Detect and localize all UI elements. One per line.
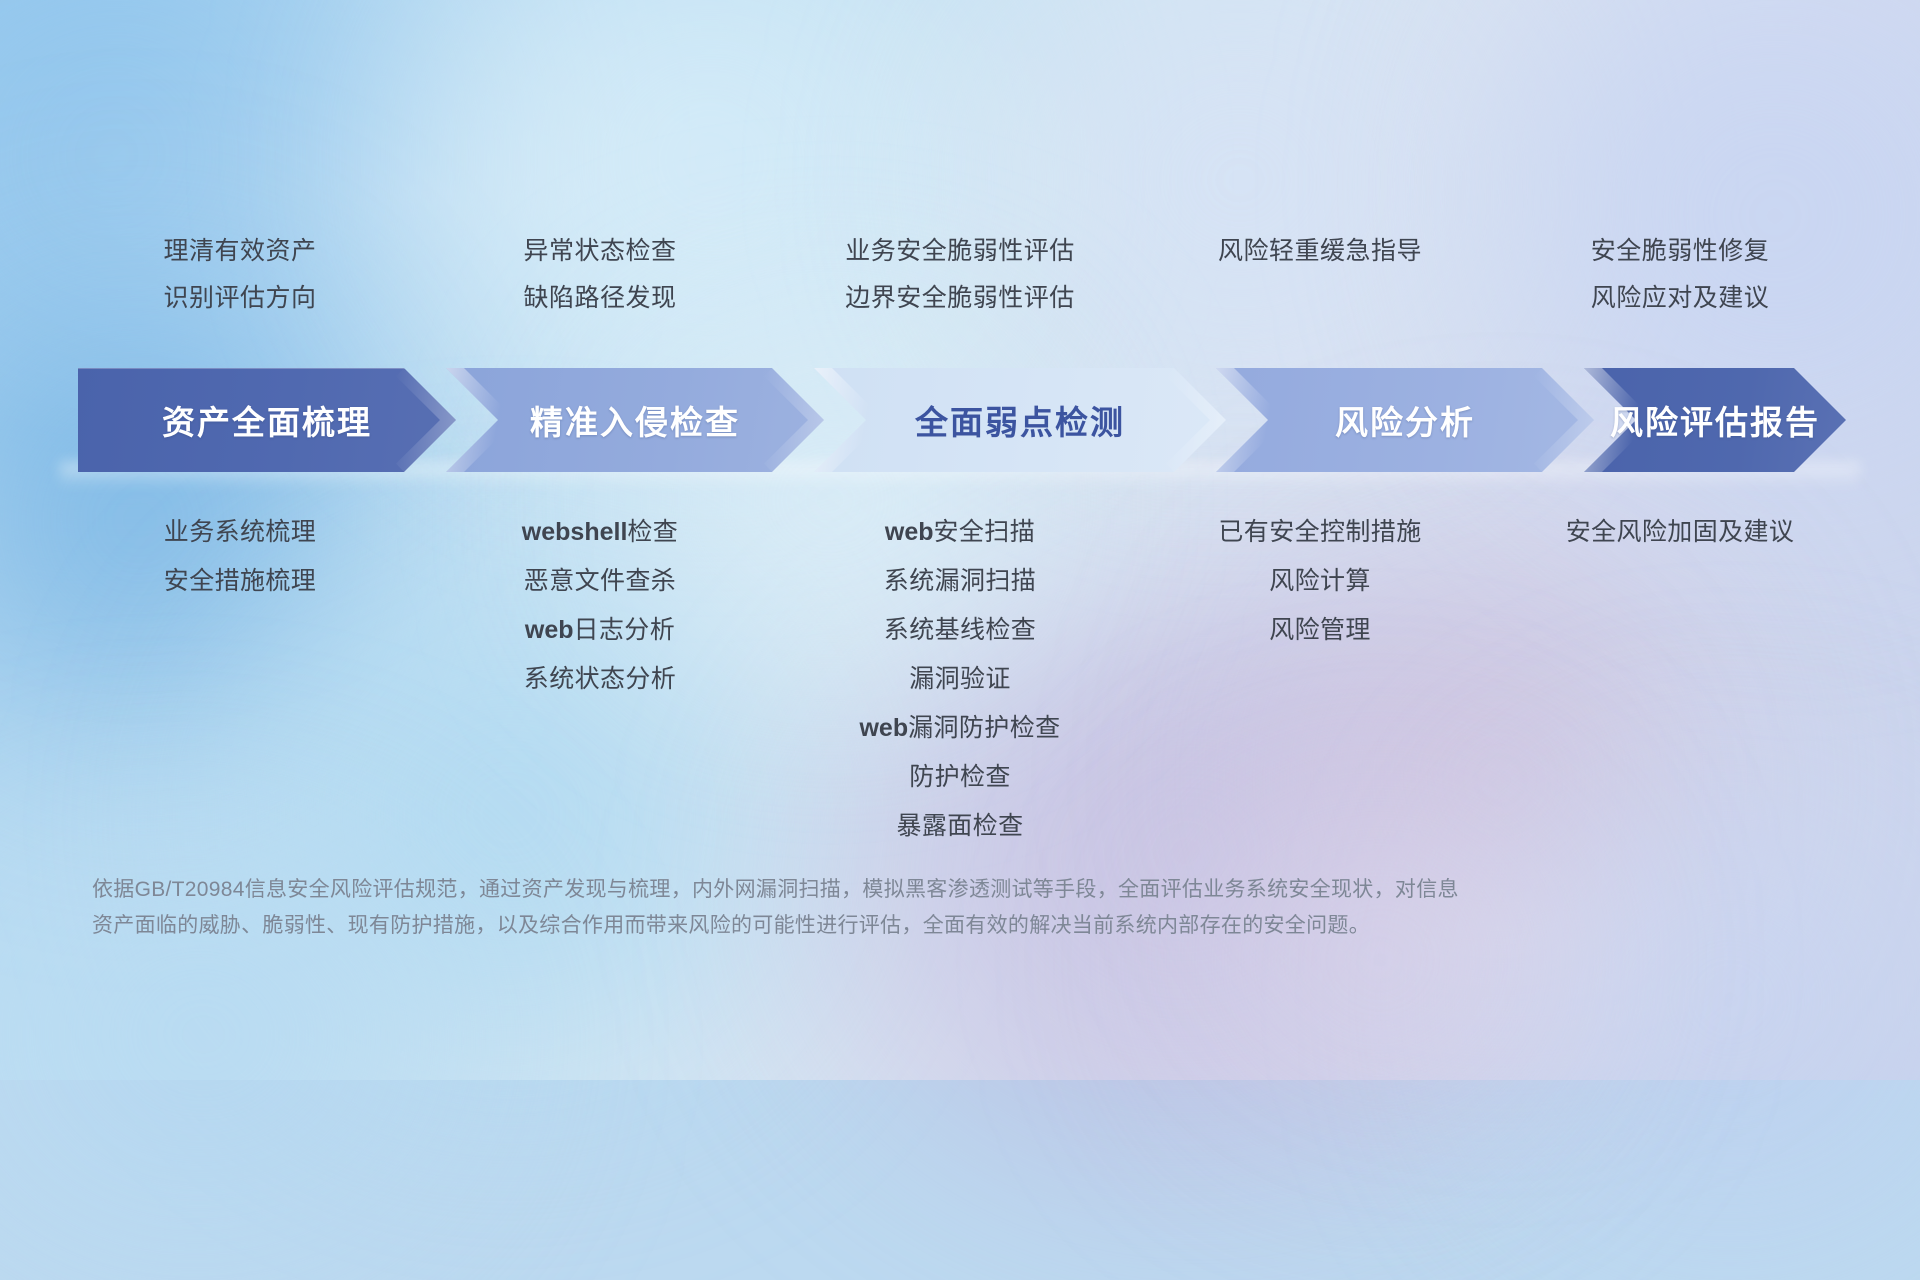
top-descriptor-column-2: 异常状态检查缺陷路径发现	[420, 228, 780, 318]
detail-item-cjk: 系统基线检查	[884, 616, 1036, 644]
stage-chevron-3[interactable]: 全面弱点检测	[814, 368, 1226, 472]
stage-chevron-4[interactable]: 风险分析	[1216, 368, 1594, 472]
top-descriptor-item: 理清有效资产	[163, 228, 316, 275]
bottom-detail-item: 安全风险加固及建议	[1566, 508, 1795, 557]
top-descriptor-column-5: 安全脆弱性修复风险应对及建议	[1500, 228, 1860, 318]
bottom-detail-item: 系统状态分析	[524, 655, 676, 704]
stage-label-4: 风险分析	[1335, 396, 1475, 444]
bottom-detail-item: 风险计算	[1269, 557, 1371, 606]
stage-label-2: 精准入侵检查	[530, 396, 740, 444]
detail-item-cjk: 系统状态分析	[524, 665, 676, 693]
bottom-detail-item: 业务系统梳理	[164, 508, 316, 557]
stage-label-5: 风险评估报告	[1610, 396, 1820, 444]
detail-item-cjk: 漏洞防护检查	[908, 714, 1060, 742]
detail-item-cjk: 检查	[627, 518, 678, 546]
stage-chevron-5[interactable]: 风险评估报告	[1584, 368, 1846, 472]
bottom-detail-column-3: web安全扫描系统漏洞扫描系统基线检查漏洞验证web漏洞防护检查防护检查暴露面检…	[780, 508, 1140, 851]
bottom-detail-item: 暴露面检查	[896, 802, 1023, 851]
top-descriptor-item: 安全脆弱性修复	[1591, 228, 1770, 275]
bottom-detail-item: 风险管理	[1269, 606, 1371, 655]
top-descriptor-item: 边界安全脆弱性评估	[845, 275, 1075, 322]
detail-item-latin: web	[525, 616, 574, 644]
bottom-detail-column-5: 安全风险加固及建议	[1500, 508, 1860, 557]
bottom-detail-item: webshell检查	[522, 508, 678, 557]
bottom-detail-item: 防护检查	[909, 753, 1011, 802]
process-diagram: 理清有效资产识别评估方向异常状态检查缺陷路径发现业务安全脆弱性评估边界安全脆弱性…	[0, 0, 1920, 1080]
detail-item-cjk: 系统漏洞扫描	[884, 567, 1036, 595]
footer-line-2: 资产面临的威胁、脆弱性、现有防护措施，以及综合作用而带来风险的可能性进行评估，全…	[92, 908, 1692, 944]
detail-item-cjk: 漏洞验证	[909, 665, 1011, 693]
bottom-detail-item: 安全措施梳理	[164, 557, 316, 606]
bottom-detail-item: web日志分析	[525, 606, 675, 655]
detail-item-cjk: 安全扫描	[934, 518, 1036, 546]
stage-label-1: 资产全面梳理	[162, 396, 372, 444]
stage-chevron-2[interactable]: 精准入侵检查	[446, 368, 824, 472]
detail-item-cjk: 风险计算	[1269, 567, 1371, 595]
stage-chevron-1[interactable]: 资产全面梳理	[78, 368, 456, 472]
top-descriptor-item: 业务安全脆弱性评估	[845, 228, 1075, 275]
top-descriptor-column-4: 风险轻重缓急指导	[1140, 228, 1500, 318]
bottom-detail-item: web安全扫描	[885, 508, 1035, 557]
top-descriptor-item: 风险应对及建议	[1591, 275, 1770, 322]
top-descriptor-item: 异常状态检查	[523, 228, 676, 275]
detail-item-cjk: 安全措施梳理	[164, 567, 316, 595]
bottom-detail-item: web漏洞防护检查	[859, 704, 1060, 753]
bottom-detail-column-4: 已有安全控制措施风险计算风险管理	[1140, 508, 1500, 655]
detail-item-cjk: 恶意文件查杀	[524, 567, 676, 595]
bottom-detail-item: 已有安全控制措施	[1218, 508, 1421, 557]
top-descriptor-column-3: 业务安全脆弱性评估边界安全脆弱性评估	[780, 228, 1140, 318]
footer-description: 依据GB/T20984信息安全风险评估规范，通过资产发现与梳理，内外网漏洞扫描，…	[92, 872, 1692, 944]
stage-label-3: 全面弱点检测	[915, 396, 1125, 444]
detail-item-cjk: 日志分析	[574, 616, 676, 644]
detail-item-latin: web	[859, 714, 908, 742]
top-descriptor-item: 风险轻重缓急指导	[1218, 228, 1422, 275]
footer-line-1: 依据GB/T20984信息安全风险评估规范，通过资产发现与梳理，内外网漏洞扫描，…	[92, 872, 1692, 908]
bottom-detail-lists-row: 业务系统梳理安全措施梳理webshell检查恶意文件查杀web日志分析系统状态分…	[60, 508, 1860, 851]
top-descriptor-item: 识别评估方向	[163, 275, 316, 322]
detail-item-cjk: 安全风险加固及建议	[1566, 518, 1795, 546]
bottom-detail-item: 系统基线检查	[884, 606, 1036, 655]
bottom-detail-column-2: webshell检查恶意文件查杀web日志分析系统状态分析	[420, 508, 780, 704]
detail-item-latin: web	[885, 518, 934, 546]
bottom-detail-column-1: 业务系统梳理安全措施梳理	[60, 508, 420, 606]
detail-item-latin: webshell	[522, 518, 628, 546]
detail-item-cjk: 业务系统梳理	[164, 518, 316, 546]
detail-item-cjk: 防护检查	[909, 763, 1011, 791]
bottom-detail-item: 恶意文件查杀	[524, 557, 676, 606]
top-descriptor-column-1: 理清有效资产识别评估方向	[60, 228, 420, 318]
bottom-detail-item: 漏洞验证	[909, 655, 1011, 704]
detail-item-cjk: 暴露面检查	[896, 812, 1023, 840]
top-descriptors-row: 理清有效资产识别评估方向异常状态检查缺陷路径发现业务安全脆弱性评估边界安全脆弱性…	[60, 228, 1860, 318]
detail-item-cjk: 已有安全控制措施	[1218, 518, 1421, 546]
bottom-detail-item: 系统漏洞扫描	[884, 557, 1036, 606]
top-descriptor-item: 缺陷路径发现	[523, 275, 676, 322]
stage-chevron-banner: 资产全面梳理 精准入侵检查 全面弱点检测 风险分析 风险评估报告	[78, 368, 1846, 472]
detail-item-cjk: 风险管理	[1269, 616, 1371, 644]
